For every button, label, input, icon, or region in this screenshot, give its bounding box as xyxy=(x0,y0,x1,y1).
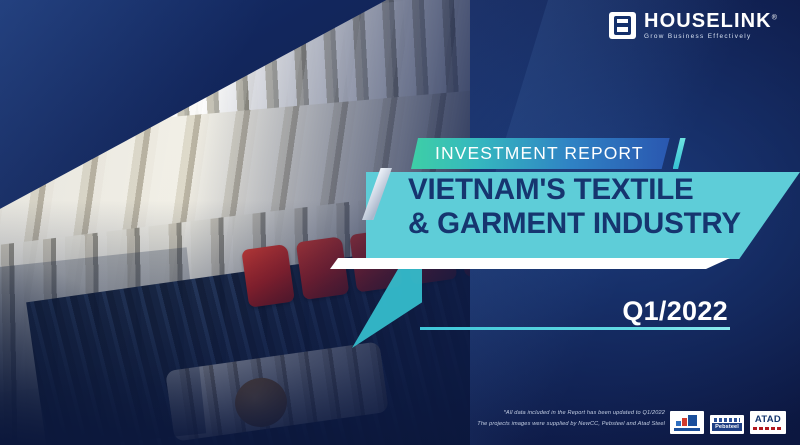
title-line-2: & GARMENT INDUSTRY xyxy=(408,207,748,241)
brand-name-text: HOUSELINK xyxy=(644,10,772,32)
pebsteel-label: Pebsteel xyxy=(712,423,742,431)
page-title: VIETNAM'S TEXTILE & GARMENT INDUSTRY xyxy=(408,173,748,241)
atad-logo-icon: ATAD xyxy=(750,411,786,434)
period-divider xyxy=(420,327,730,330)
atad-label: ATAD xyxy=(755,415,781,425)
houselink-h-mark-icon xyxy=(609,12,636,39)
brand-logo[interactable]: HOUSELINK® Grow Business Effectively xyxy=(609,11,778,40)
investment-report-ribbon: INVESTMENT REPORT xyxy=(411,138,686,169)
brand-name: HOUSELINK® xyxy=(644,11,778,31)
ribbon-label: INVESTMENT REPORT xyxy=(435,143,644,164)
partner-logos: Pebsteel ATAD xyxy=(670,411,786,434)
title-line-1: VIETNAM'S TEXTILE xyxy=(408,173,748,207)
footnote-line-1: *All data included in the Report has bee… xyxy=(477,408,665,418)
report-cover: HOUSELINK® Grow Business Effectively INV… xyxy=(0,0,800,445)
pebsteel-logo-icon: Pebsteel xyxy=(710,415,744,434)
footnote-line-2: The projects images were supplied by New… xyxy=(477,419,665,429)
registered-mark: ® xyxy=(772,14,778,21)
newcc-logo-icon xyxy=(670,411,704,434)
brand-tagline: Grow Business Effectively xyxy=(644,34,778,40)
title-underline-strip xyxy=(330,258,730,269)
footnote: *All data included in the Report has bee… xyxy=(477,408,665,429)
ribbon-slash-icon xyxy=(673,138,686,169)
report-period: Q1/2022 xyxy=(622,296,728,327)
